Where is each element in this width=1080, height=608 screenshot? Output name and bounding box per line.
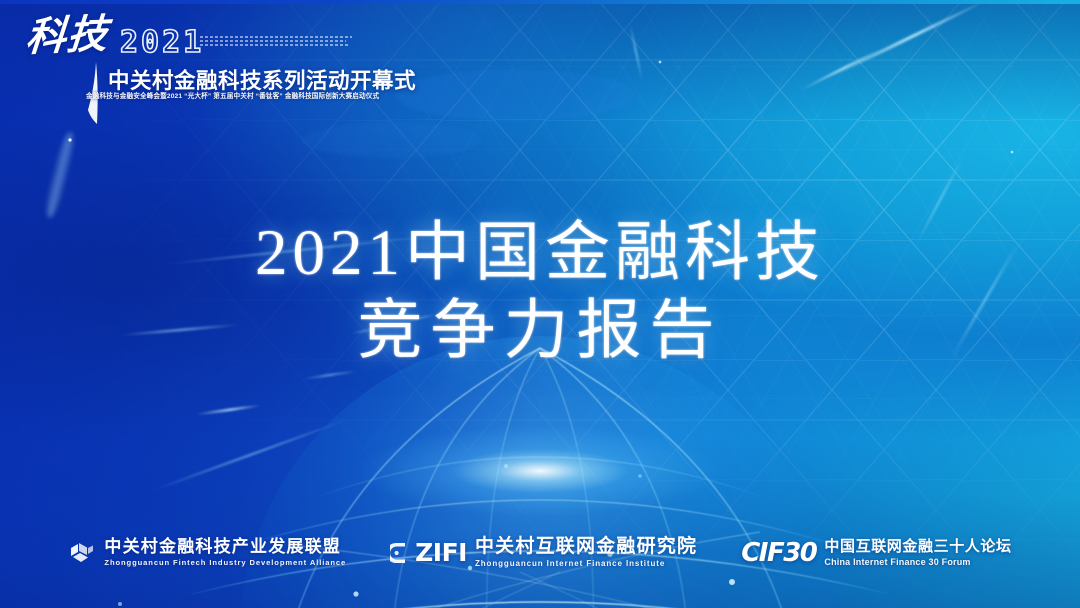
footer-logo-name-cn: 中国互联网金融三十人论坛 <box>824 539 1011 554</box>
footer-logo-name-en: Zhongguancun Internet Finance Institute <box>475 560 697 568</box>
footer-logo-text: 中国互联网金融三十人论坛 China Internet Finance 30 F… <box>824 539 1011 567</box>
footer-logo-zfida: 中关村金融科技产业发展联盟 Zhongguancun Fintech Indus… <box>68 538 346 567</box>
footer-logo-text: 中关村金融科技产业发展联盟 Zhongguancun Fintech Indus… <box>104 538 346 567</box>
top-edge-strip <box>0 0 1080 4</box>
footer-logo-name-en: China Internet Finance 30 Forum <box>824 558 1011 567</box>
footer-logo-cif30: CIF30 中国互联网金融三十人论坛 China Internet Financ… <box>741 538 1011 568</box>
footer-logo-zifi: ZIFI 中关村互联网金融研究院 Zhongguancun Internet F… <box>390 537 697 568</box>
slide-canvas: 科技 2021 中关村金融科技系列活动开幕式 金融科技与金融安全峰会暨2021 … <box>0 0 1080 608</box>
footer-logo-text: 中关村互联网金融研究院 Zhongguancun Internet Financ… <box>475 537 697 568</box>
zifi-wordmark: ZIFI <box>415 538 467 567</box>
cube-logo-icon <box>68 539 96 567</box>
cif30-wordmark: CIF30 <box>741 538 816 568</box>
footer-logo-name-cn: 中关村互联网金融研究院 <box>475 537 697 556</box>
footer-logo-name-cn: 中关村金融科技产业发展联盟 <box>104 538 346 555</box>
header-year: 2021 <box>120 28 204 58</box>
kehi-wordmark: 科技 <box>24 14 110 58</box>
footer-logo-name-en: Zhongguancun Fintech Industry Developmen… <box>104 559 346 567</box>
footer-logo-bar: 中关村金融科技产业发展联盟 Zhongguancun Fintech Indus… <box>0 537 1080 568</box>
header-subtitle: 金融科技与金融安全峰会暨2021 “光大杯” 第五届中关村 “番钛客” 金融科技… <box>86 90 379 100</box>
event-header-logo: 科技 2021 中关村金融科技系列活动开幕式 金融科技与金融安全峰会暨2021 … <box>24 22 354 104</box>
zifi-bracket-icon <box>390 540 407 566</box>
header-micro-text <box>200 36 352 48</box>
